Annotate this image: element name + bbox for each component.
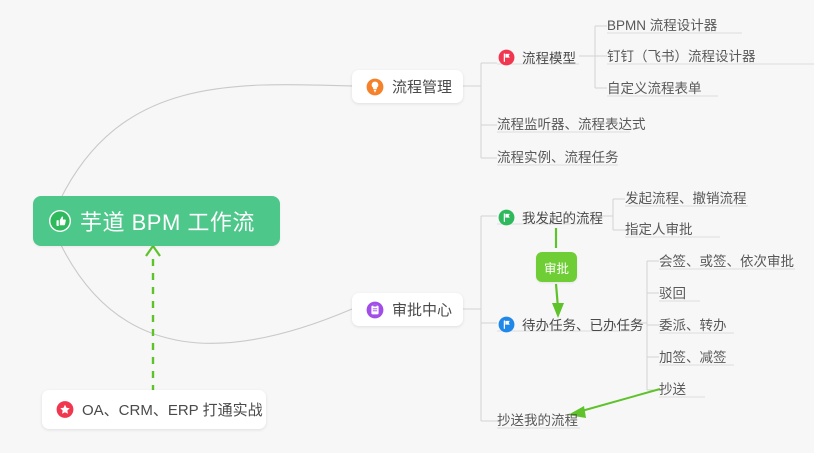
node-label: 流程管理 [392,76,452,97]
lightbulb-pin-icon [366,78,384,96]
leaf-label: 驳回 [659,282,686,302]
leaf-label: 钉钉（飞书）流程设计器 [607,45,756,65]
node-approval-center[interactable]: 审批中心 [352,293,463,326]
leaf-cc[interactable]: 抄送 [659,378,686,403]
leaf-countersign[interactable]: 会签、或签、依次审批 [659,250,794,275]
leaf-label: 流程实例、流程任务 [497,146,619,166]
node-label: 待办任务、已办任务 [522,314,644,334]
arrow-approve-bottom [556,284,558,308]
leaf-delegate-transfer[interactable]: 委派、转办 [659,314,727,339]
arrow-footer-head [146,246,160,256]
leaf-custom-form[interactable]: 自定义流程表单 [607,77,702,102]
node-label: 流程模型 [522,47,576,67]
leaf-label: 自定义流程表单 [607,77,702,97]
leaf-label: 发起流程、撤销流程 [625,187,747,207]
clipboard-icon [366,301,384,319]
leaf-add-remove-sign[interactable]: 加签、减签 [659,346,727,371]
thumbs-up-icon [49,210,71,232]
link-root-to-approval-center [60,243,352,343]
leaf-label: 加签、减签 [659,346,727,366]
leaf-assignee-approval[interactable]: 指定人审批 [625,218,693,243]
flag-icon [497,48,515,66]
leaf-label: 委派、转办 [659,314,727,334]
flag-icon [497,315,515,333]
root-label: 芋道 BPM 工作流 [80,205,255,237]
node-label: 审批中心 [392,299,452,320]
node-process-management[interactable]: 流程管理 [352,70,463,103]
node-integration-practice[interactable]: OA、CRM、ERP 打通实战 [42,390,266,429]
node-todo-done-tasks[interactable]: 待办任务、已办任务 [497,314,644,338]
leaf-process-listener[interactable]: 流程监听器、流程表达式 [497,113,646,138]
approve-badge-label: 审批 [544,258,569,277]
leaf-launch-cancel[interactable]: 发起流程、撤销流程 [625,187,747,212]
node-process-model[interactable]: 流程模型 [497,47,576,71]
leaf-cc-to-me[interactable]: 抄送我的流程 [497,409,578,434]
approve-badge: 审批 [536,252,577,282]
root-node[interactable]: 芋道 BPM 工作流 [33,196,280,246]
leaf-label: 流程监听器、流程表达式 [497,113,646,133]
leaf-label: 抄送 [659,378,686,398]
arrow-cc-line [578,389,660,412]
leaf-label: 会签、或签、依次审批 [659,250,794,270]
leaf-label: BPMN 流程设计器 [607,14,717,34]
leaf-reject[interactable]: 驳回 [659,282,686,307]
node-label: 我发起的流程 [522,207,603,227]
leaf-dingtalk-designer[interactable]: 钉钉（飞书）流程设计器 [607,45,756,70]
node-my-initiated[interactable]: 我发起的流程 [497,207,603,231]
node-label: OA、CRM、ERP 打通实战 [82,399,263,420]
leaf-process-instance[interactable]: 流程实例、流程任务 [497,146,619,171]
leaf-label: 指定人审批 [625,218,693,238]
leaf-label: 抄送我的流程 [497,409,578,429]
star-icon [56,401,74,419]
link-root-to-process-management [60,85,352,200]
flag-icon [497,208,515,226]
mindmap-canvas: 芋道 BPM 工作流 流程管理 流程模型 BPMN 流程设计器 钉钉（飞书 [0,0,814,453]
leaf-bpmn-designer[interactable]: BPMN 流程设计器 [607,14,717,39]
